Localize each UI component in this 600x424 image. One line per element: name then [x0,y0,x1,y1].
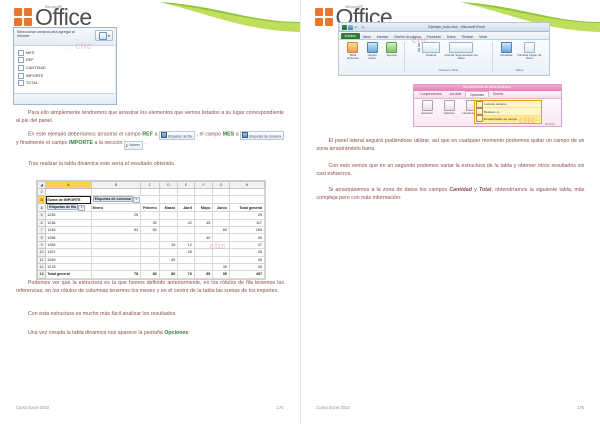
cell[interactable] [91,189,141,196]
cell-value[interactable] [213,212,230,219]
paragraph-r3: Si arrastrásemos a la zona de datos los … [317,187,585,202]
cell[interactable] [194,196,213,204]
cell[interactable] [178,189,195,196]
cell[interactable] [46,189,91,196]
save-icon[interactable] [348,25,353,30]
cell-value[interactable]: 30 [141,219,160,226]
row-header[interactable]: 10 [38,249,46,256]
sort-buttons[interactable]: ↑≣ ↓≣ [416,44,420,53]
chevron-down-icon [108,35,110,37]
table-row-grand-total: 13 Total general 78 80 80 79 85 95 497 [38,271,265,278]
quick-access-toolbar[interactable]: ↶ ↷ [342,25,367,30]
cell-value[interactable] [194,249,213,256]
field-item-cantidad[interactable]: CANTIDAD [18,64,116,72]
p2-part-a: En este ejemplo deberíamos arrastrar el … [28,132,142,138]
refresh-icon [501,42,512,53]
row-header[interactable]: 12 [38,263,46,270]
field-label: REF [26,58,34,62]
field-list-icon [476,101,483,108]
cell-value[interactable]: 45 [194,219,213,226]
field-list-header: Seleccionar campos para agregar al infor… [14,28,116,46]
paragraph-r1: El panel lateral seguirá pudiéndose util… [317,138,585,153]
redo-icon[interactable]: ↷ [361,25,366,30]
pivot-table-screenshot[interactable]: ◢ A B C D E F G H 2 [36,180,266,280]
field-name-total: Total [479,187,491,193]
p2-part-e: y finalmente el campo [16,140,69,146]
button-label: Insertar Segmentación de datos [442,54,480,61]
cell-value[interactable] [91,234,141,241]
toggle-label: Botones +/- [484,110,500,114]
paragraph-4-text: Podemos ver que la estructura es la que … [16,280,284,294]
tab-complementos[interactable]: Complementos [416,92,446,97]
cell[interactable] [159,189,178,196]
cell-row-total[interactable]: 117 [229,219,264,226]
paragraph-4: Podemos ver que la estructura es la que … [16,280,284,295]
group-icon [386,42,397,53]
cell-ref[interactable]: 1267 [46,249,91,256]
cell-ref[interactable]: 1236 [46,219,91,226]
field-list-title: Seleccionar campos para agregar al infor… [17,30,83,39]
cell[interactable] [229,189,264,196]
toggle-label: Lista de campos [484,102,507,106]
document-title: Ejemplo_todo.xlsx - Microsoft Excel [368,25,546,29]
cell-value[interactable]: 60 [213,226,230,233]
p6-part-a: Una vez creada la tabla dinámica nos apa… [28,330,164,336]
cell-value[interactable] [178,256,195,263]
right-page: Microsoft® Office ↶ ↷ Ejemplo_todo.xlsx … [301,0,600,424]
cell-row-total[interactable]: 25 [229,249,264,256]
cell-ref[interactable]: 1235 [46,212,91,219]
cell-total-label[interactable]: Total general [46,271,91,278]
office-logo-tm: Microsoft® [346,5,363,9]
ribbon-group-pivot: Tabla dinámica Campo activo Agrupar [341,42,406,72]
column-labels-button[interactable]: Etiquetas de columna [93,196,133,202]
ribbon-button-tabla-dinamica[interactable]: Tabla dinámica [344,42,361,61]
checkbox-icon[interactable] [18,73,24,79]
row-header[interactable]: 13 [38,271,46,278]
cell-row-total[interactable]: 35 [229,263,264,270]
cell[interactable] [213,196,230,204]
footer-page-number: 174 [277,405,284,410]
cell-value[interactable] [194,256,213,263]
paragraph-5-text: Con esta estructura es mucho más fácil a… [28,311,177,317]
checkbox-icon[interactable] [18,65,24,71]
cell-row-labels[interactable]: Etiquetas de fila▾ [46,204,91,212]
column-header-c[interactable]: C [141,182,160,189]
cell-value[interactable] [178,212,195,219]
ribbon-button-actualizar[interactable]: Actualizar [498,42,515,57]
group-name-datos: Datos [516,68,524,72]
contextual-ribbon-body: Acciones Cálculos Herramientas Lista de … [414,99,561,127]
chip-row-labels-text: Etiquetas de fila [168,135,192,139]
button-label: Agrupar [387,54,397,57]
sort-asc-icon[interactable]: ↑≣ [416,44,420,48]
cell-value[interactable] [194,241,213,248]
field-item-mes[interactable]: MES [18,49,116,57]
cell-total-value[interactable]: 79 [178,271,195,278]
column-header-e[interactable]: E [178,182,195,189]
field-item-total[interactable]: TOTAL [18,79,116,87]
cell-value[interactable] [194,263,213,270]
field-item-importe[interactable]: IMPORTE [18,72,116,80]
cell-row-total[interactable]: 25 [229,212,264,219]
cell-value[interactable]: 25 [91,212,141,219]
cell-row-total[interactable]: 47 [229,241,264,248]
field-label: IMPORTE [26,74,43,78]
sigma-icon: Σ [126,143,128,147]
chip-column-labels-text: Etiquetas de columna [249,135,281,139]
footer-right: Curso Excel 2010 175 [317,405,585,410]
paragraph-1-text: Para ello simplemente tendremos que arra… [16,110,284,124]
tab-datos[interactable]: Datos [444,34,459,39]
sort-desc-icon[interactable]: ↓≣ [416,49,420,53]
excel-title-bar: ↶ ↷ Ejemplo_todo.xlsx - Microsoft Excel [339,23,549,32]
ribbon-button-cambiar-origen[interactable]: Cambiar origen de datos [517,42,541,61]
tab-formulas[interactable]: Fórmulas [424,34,444,39]
cell-value[interactable] [91,249,141,256]
change-source-icon [524,42,535,53]
cell-value[interactable]: 45 [159,256,178,263]
cell-total-value[interactable]: 80 [159,271,178,278]
ribbon-tabs: Archivo Inicio Insertar Diseño de página… [339,32,549,40]
tab-acrobat[interactable]: Acrobat [446,92,465,97]
cell-value[interactable]: 35 [213,263,230,270]
cell-value[interactable] [178,226,195,233]
excel-icon[interactable] [342,25,347,30]
paragraph-5: Con esta estructura es mucho más fácil a… [16,311,284,319]
cell-value[interactable] [141,263,160,270]
cell-value[interactable] [213,234,230,241]
tab-vista[interactable]: Vista [476,34,489,39]
field-list-items: MES REF CANTIDAD IMPORTE TOTAL [14,46,116,87]
cell-value[interactable] [159,234,178,241]
tab-opciones[interactable]: Opciones [465,91,489,97]
cell-total-value[interactable]: 95 [213,271,230,278]
cell-value[interactable]: 15 [159,241,178,248]
row-header[interactable]: 9 [38,241,46,248]
cell-value[interactable] [159,226,178,233]
button-label: Actualizar [500,54,513,57]
row-header[interactable]: 11 [38,256,46,263]
cell-ref[interactable]: 1258 [46,234,91,241]
field-label: TOTAL [26,81,38,85]
cell[interactable] [141,189,160,196]
cell-value[interactable] [213,219,230,226]
month-header-febrero[interactable]: Febrero [141,204,160,212]
ribbon-button-ordenar[interactable]: Ordenar [423,42,440,57]
cell-value[interactable] [141,241,160,248]
button-label: Acciones [421,112,433,115]
month-header-junio[interactable]: Junio [213,204,230,212]
row-header[interactable]: 5 [38,212,46,219]
cell-value[interactable] [213,256,230,263]
table-column-header-row: ◢ A B C D E F G H [38,182,265,189]
table-row-pivot-header: 3 Suma de IMPORTE Etiquetas de columna▾ [38,196,265,204]
p2-part-g: . [143,140,146,146]
field-name-importe: IMPORTE [69,140,93,146]
cell[interactable] [229,196,264,204]
footer-page-number: 175 [577,405,584,410]
undo-icon[interactable]: ↶ [355,25,360,30]
cell-total-value[interactable]: 80 [141,271,160,278]
cell-ref[interactable]: 1245 [46,226,91,233]
filter-dropdown-icon[interactable]: ▾ [133,197,140,203]
footer-course-name: Curso Excel 2010 [16,405,49,410]
tab-archivo[interactable]: Archivo [341,33,360,39]
column-header-h[interactable]: H [229,182,264,189]
cell-value[interactable] [141,212,160,219]
calculations-icon [444,100,455,111]
cell-value[interactable] [159,212,178,219]
month-header-marzo[interactable]: Marzo [159,204,178,212]
table-row: 8 1258 40 40 [38,234,265,241]
p2-part-f: a la sección [93,140,124,146]
paragraph-r2-text: Con esto vemos que en un segundo podemos… [317,163,585,177]
group-name-ordenar-y-filtrar: Ordenar y filtrar [438,68,458,72]
cell[interactable] [159,196,178,204]
p2-part-c: , el campo [195,132,223,138]
ribbon-group-datos: Actualizar Cambiar origen de datos Datos [493,42,547,72]
tab-insertar[interactable]: Insertar [374,34,392,39]
cell-row-total[interactable]: 45 [229,256,264,263]
ribbon-button-campo-activo[interactable]: Campo activo [364,42,381,61]
cell-total-value[interactable]: 85 [194,271,213,278]
pivot-table-icon [347,42,358,53]
footer-course-name: Curso Excel 2010 [317,405,350,410]
column-labels-icon [242,132,248,138]
footer-left: Curso Excel 2010 174 [16,405,284,410]
row-header[interactable]: 4 [38,204,46,212]
paragraph-3-text: Tras realizar la tabla dinámica este ser… [28,161,176,167]
active-field-icon [367,42,378,53]
toggle-encabezados-de-campo[interactable]: Encabezados de campo [476,115,540,122]
field-name-cantidad: Cantidad [449,187,472,193]
paragraph-1: Para ello simplemente tendremos que arra… [16,110,284,125]
row-header[interactable]: 3 [38,196,46,204]
toggle-label: Encabezados de campo [484,117,517,121]
mostrar-group-highlight: Lista de campos Botones +/- Encabezados … [474,100,542,124]
cell-value[interactable] [159,219,178,226]
cell-grand-total[interactable]: 497 [229,271,264,278]
row-labels-icon [161,132,167,138]
tab-revisar[interactable]: Revisar [459,34,477,39]
table-row: 11 1269 45 45 [38,256,265,263]
cell-value[interactable] [159,263,178,270]
pivot-contextual-ribbon-screenshot[interactable]: Herramientas de tabla dinámica Complemen… [413,84,562,127]
column-header-a[interactable]: A [46,182,91,189]
book-spread: Microsoft® Office Seleccionar campos par… [0,0,600,424]
ribbon-group-ordenar-filtrar: ↑≣ ↓≣ Ordenar Insertar Segmentación de d… [405,42,493,72]
chip-values[interactable]: ΣValores [124,141,143,150]
cell-value[interactable] [194,226,213,233]
sort-icon [422,42,440,53]
cell-value[interactable] [213,249,230,256]
cell-total-value[interactable]: 78 [91,271,141,278]
cell-ref[interactable]: 1269 [46,256,91,263]
pivot-table: ◢ A B C D E F G H 2 [37,181,265,279]
corner-cell: ◢ [38,182,46,189]
field-headers-icon [476,115,483,122]
paragraph-6: Una vez creada la tabla dinámica nos apa… [16,330,284,338]
paragraph-3: Tras realizar la tabla dinámica este ser… [16,161,284,169]
checkbox-icon[interactable] [18,57,24,63]
cell-value[interactable] [141,234,160,241]
office-logo-mark-icon [14,8,35,28]
ribbon-body: Tabla dinámica Campo activo Agrupar [339,40,549,75]
table-row: 6 1236 30 42 45 117 [38,219,265,226]
cell-row-total[interactable]: 40 [229,234,264,241]
table-row: 10 1267 25 25 [38,249,265,256]
column-header-g[interactable]: G [213,182,230,189]
excel-window-screenshot[interactable]: ↶ ↷ Ejemplo_todo.xlsx - Microsoft Excel … [338,22,550,76]
cell-value[interactable] [159,249,178,256]
cell-row-total[interactable]: 163 [229,226,264,233]
table-row: 2 [38,189,265,196]
ribbon-button-acciones[interactable]: Acciones [418,100,437,126]
button-label: Tabla dinámica [344,54,361,61]
cell-value[interactable]: 25 [178,249,195,256]
cell-value[interactable] [194,212,213,219]
office-logo-tm: Microsoft® [45,5,62,9]
plus-minus-icon [476,108,483,115]
paragraph-r1-text: El panel lateral seguirá pudiéndose util… [317,138,585,152]
cell[interactable] [178,196,195,204]
field-label: MES [26,51,34,55]
button-label: Cálculos [443,112,454,115]
ribbon-button-agrupar[interactable]: Agrupar [383,42,400,57]
column-header-d[interactable]: D [159,182,178,189]
tab-diseno[interactable]: Diseño [489,92,507,97]
checkbox-icon[interactable] [18,50,24,56]
table-row-month-headers: 4 Etiquetas de fila▾ Enero Febrero Marzo… [38,204,265,212]
button-label: Cambiar origen de datos [517,54,541,61]
row-labels-button[interactable]: Etiquetas de fila [47,204,78,210]
month-header-abril[interactable]: Abril [178,204,195,212]
month-header-total-general[interactable]: Total general [229,204,264,212]
cell-value[interactable] [178,263,195,270]
p6-part-c: : [188,330,190,336]
cell-value[interactable] [91,256,141,263]
toggle-botones-mas-menos[interactable]: Botones +/- [476,107,540,114]
ribbon-button-calculos[interactable]: Cálculos [440,100,459,126]
table-row: 5 1235 25 25 [38,212,265,219]
field-item-ref[interactable]: REF [18,57,116,65]
chip-row-labels[interactable]: Etiquetas de fila [159,131,195,140]
cell-value[interactable] [91,263,141,270]
column-header-b[interactable]: B [91,182,141,189]
cell-value[interactable]: 50 [141,226,160,233]
cell-value[interactable]: 53 [91,226,141,233]
p3-part-b: y [472,187,479,193]
filter-dropdown-icon[interactable]: ▾ [78,205,85,211]
field-name-mes: MES [223,132,234,138]
table-row: 7 1245 53 50 60 163 [38,226,265,233]
cell[interactable] [194,189,213,196]
field-list-options-icon [99,32,107,40]
table-row: 9 1265 15 12 47 [38,241,265,248]
cell-value[interactable]: 42 [178,219,195,226]
contextual-ribbon-tabs: Complementos Acrobat Opciones Diseño [414,91,561,99]
cell-suma-de-importe[interactable]: Suma de IMPORTE [46,196,91,204]
row-header[interactable]: 6 [38,219,46,226]
cell[interactable] [213,189,230,196]
slicer-icon [449,42,473,53]
tab-inicio[interactable]: Inicio [360,34,374,39]
table-row: 12 1278 35 35 [38,263,265,270]
actions-icon [422,100,433,111]
paragraph-2: En este ejemplo deberíamos arrastrar el … [16,131,284,150]
button-label: Ordenar [426,54,437,57]
column-header-f[interactable]: F [194,182,213,189]
tab-name-opciones: Opciones [164,330,188,336]
field-label: CANTIDAD [26,66,46,70]
row-header[interactable]: 2 [38,189,46,196]
cell-value[interactable] [141,249,160,256]
chip-column-labels[interactable]: Etiquetas de columna [240,131,284,140]
row-header[interactable]: 7 [38,226,46,233]
cell-value[interactable] [213,241,230,248]
ribbon-button-insertar-segmentacion[interactable]: Insertar Segmentación de datos [442,42,480,61]
field-list-options-button[interactable] [95,30,113,41]
chip-values-text: Valores [129,143,140,147]
cell-value[interactable]: 12 [178,241,195,248]
tab-diseno-de-pagina[interactable]: Diseño de página [391,34,423,39]
field-name-ref: REF [142,132,153,138]
group-name-mostrar: Mostrar [545,122,554,126]
p3-part-a: Si arrastrásemos a la zona de datos los … [329,187,450,193]
office-logo-mark-icon [315,8,336,28]
row-header[interactable]: 8 [38,234,46,241]
button-label: Campo activo [364,54,381,61]
cell-ref[interactable]: 1278 [46,263,91,270]
cell-column-labels[interactable]: Etiquetas de columna▾ [91,196,159,204]
paragraph-r2: Con esto vemos que en un segundo podemos… [317,163,585,178]
cell-ref[interactable]: 1265 [46,241,91,248]
field-list-footer [14,93,116,104]
cell-value[interactable] [91,219,141,226]
cell-value[interactable] [141,256,160,263]
checkbox-icon[interactable] [18,80,24,86]
month-header-enero[interactable]: Enero [91,204,141,212]
cell-value[interactable]: 40 [194,234,213,241]
month-header-mayo[interactable]: Mayo [194,204,213,212]
pivot-field-list-panel[interactable]: Seleccionar campos para agregar al infor… [13,27,117,105]
cell-value[interactable] [178,234,195,241]
left-page: Microsoft® Office Seleccionar campos par… [0,0,301,424]
cell-value[interactable] [91,241,141,248]
